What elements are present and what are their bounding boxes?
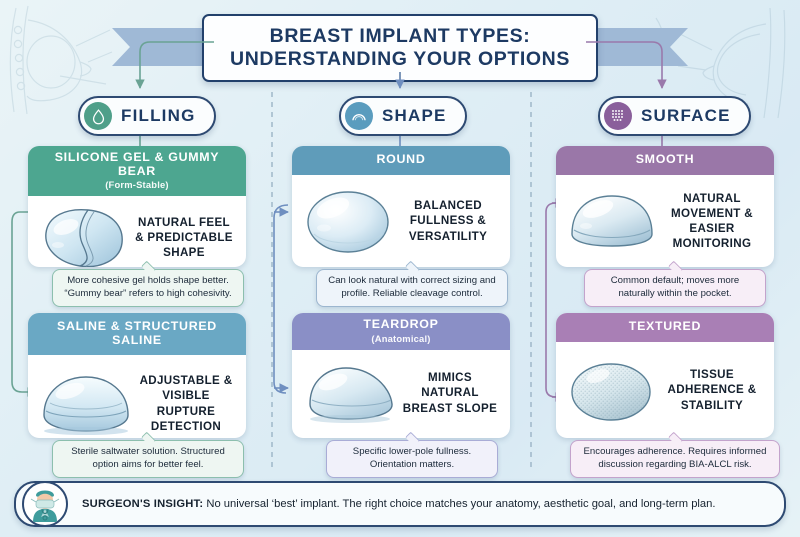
category-label-surface: SURFACE bbox=[641, 106, 731, 126]
card-body: BALANCED FULLNESS & VERSATILITY bbox=[292, 175, 510, 266]
card-header-teardrop: TEARDROP (Anatomical) bbox=[292, 313, 510, 350]
card-body: TISSUE ADHERENCE & STABILITY bbox=[556, 342, 774, 437]
ribbon-tail-right bbox=[592, 28, 688, 66]
ribbon-tail-left bbox=[112, 28, 208, 66]
category-label-filling: FILLING bbox=[121, 106, 196, 126]
callout-text: More cohesive gel holds shape better. “G… bbox=[64, 275, 231, 299]
saline-implant-illustration bbox=[36, 367, 136, 438]
title-ribbon: BREAST IMPLANT TYPES: UNDERSTANDING YOUR… bbox=[0, 8, 800, 70]
card-subtitle: (Form-Stable) bbox=[34, 179, 240, 190]
surgeon-insight-body: No universal ‘best’ implant. The right c… bbox=[203, 498, 715, 510]
card-benefit: MIMICS NATURAL BREAST SLOPE bbox=[400, 370, 502, 416]
card-title: SILICONE GEL & GUMMY BEAR bbox=[34, 151, 240, 178]
card-body: NATURAL MOVEMENT & EASIER MONITORING bbox=[556, 175, 774, 266]
card-body: NATURAL FEEL & PREDICTABLE SHAPE bbox=[28, 196, 246, 267]
callout-silicone-gel: More cohesive gel holds shape better. “G… bbox=[52, 269, 244, 307]
card-title: ROUND bbox=[298, 153, 504, 167]
callout-saline: Sterile saltwater solution. Structured o… bbox=[52, 440, 244, 478]
card-benefit: TISSUE ADHERENCE & STABILITY bbox=[660, 367, 766, 413]
card-title: TEARDROP bbox=[298, 318, 504, 332]
category-label-shape: SHAPE bbox=[382, 106, 447, 126]
card-benefit: NATURAL FEEL & PREDICTABLE SHAPE bbox=[132, 215, 238, 261]
card-saline[interactable]: SALINE & STRUCTURED SALINE ADJUSTABLE & … bbox=[28, 313, 246, 438]
callout-text: Encourages adherence. Requires informed … bbox=[584, 446, 767, 470]
card-benefit: ADJUSTABLE & VISIBLE RUPTURE DETECTION bbox=[136, 373, 238, 434]
card-body: ADJUSTABLE & VISIBLE RUPTURE DETECTION bbox=[28, 355, 246, 438]
gummy-bear-implant-illustration bbox=[36, 203, 132, 267]
page-title-line2: UNDERSTANDING YOUR OPTIONS bbox=[214, 48, 586, 71]
card-title: SMOOTH bbox=[562, 153, 768, 167]
smooth-implant-illustration bbox=[564, 186, 660, 256]
callout-round: Can look natural with correct sizing and… bbox=[316, 269, 508, 307]
card-round[interactable]: ROUND BALANCED FULLNESS & VERSATILITY bbox=[292, 146, 510, 267]
card-textured[interactable]: TEXTURED bbox=[556, 313, 774, 438]
callout-text: Can look natural with correct sizing and… bbox=[328, 275, 495, 299]
category-pill-filling[interactable]: FILLING bbox=[78, 96, 216, 136]
card-subtitle: (Anatomical) bbox=[298, 333, 504, 344]
callout-text: Sterile saltwater solution. Structured o… bbox=[71, 446, 225, 470]
teardrop-implant-illustration bbox=[300, 358, 400, 428]
surgeon-insight-bar: SURGEON'S INSIGHT: No universal ‘best’ i… bbox=[14, 481, 786, 527]
textured-implant-illustration bbox=[564, 354, 660, 426]
card-title: TEXTURED bbox=[562, 320, 768, 334]
round-implant-illustration bbox=[300, 184, 396, 258]
card-smooth[interactable]: SMOOTH NATURAL MOVEMENT & EASIER MONITOR… bbox=[556, 146, 774, 267]
surgeon-insight-label: SURGEON'S INSIGHT: bbox=[82, 498, 203, 510]
page-title: BREAST IMPLANT TYPES: UNDERSTANDING YOUR… bbox=[202, 14, 598, 82]
card-body: MIMICS NATURAL BREAST SLOPE bbox=[292, 350, 510, 435]
callout-teardrop: Specific lower-pole fullness. Orientatio… bbox=[326, 440, 498, 478]
callout-text: Specific lower-pole fullness. Orientatio… bbox=[353, 446, 471, 470]
droplet-icon bbox=[84, 102, 112, 130]
callout-smooth: Common default; moves more naturally wit… bbox=[584, 269, 766, 307]
card-header-textured: TEXTURED bbox=[556, 313, 774, 342]
card-title: SALINE & STRUCTURED SALINE bbox=[34, 320, 240, 347]
callout-textured: Encourages adherence. Requires informed … bbox=[570, 440, 780, 478]
card-silicone-gel[interactable]: SILICONE GEL & GUMMY BEAR (Form-Stable) … bbox=[28, 146, 246, 267]
surgeon-avatar-icon bbox=[22, 481, 68, 527]
card-header-round: ROUND bbox=[292, 146, 510, 175]
page-title-line1: BREAST IMPLANT TYPES: bbox=[214, 25, 586, 48]
card-header-saline: SALINE & STRUCTURED SALINE bbox=[28, 313, 246, 355]
card-header-silicone-gel: SILICONE GEL & GUMMY BEAR (Form-Stable) bbox=[28, 146, 246, 196]
callout-text: Common default; moves more naturally wit… bbox=[611, 275, 740, 299]
card-header-smooth: SMOOTH bbox=[556, 146, 774, 175]
dome-arc-icon bbox=[345, 102, 373, 130]
surgeon-insight-text: SURGEON'S INSIGHT: No universal ‘best’ i… bbox=[16, 497, 729, 511]
textured-dots-icon bbox=[604, 102, 632, 130]
card-benefit: NATURAL MOVEMENT & EASIER MONITORING bbox=[660, 191, 766, 252]
card-benefit: BALANCED FULLNESS & VERSATILITY bbox=[396, 198, 502, 244]
category-pill-surface[interactable]: SURFACE bbox=[598, 96, 751, 136]
infographic-canvas: BREAST IMPLANT TYPES: UNDERSTANDING YOUR… bbox=[0, 0, 800, 537]
category-pill-shape[interactable]: SHAPE bbox=[339, 96, 467, 136]
card-teardrop[interactable]: TEARDROP (Anatomical) MIMICS NATURAL BRE… bbox=[292, 313, 510, 438]
